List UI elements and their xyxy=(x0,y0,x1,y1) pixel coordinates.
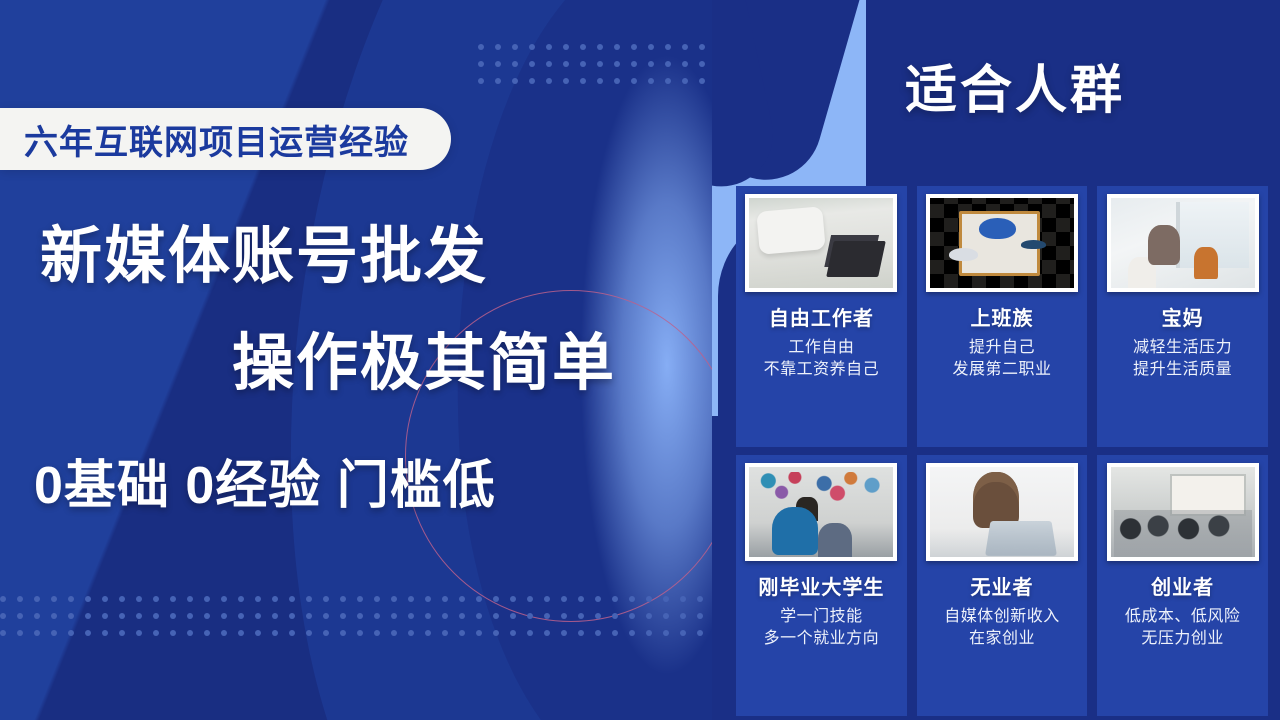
card-title: 自由工作者 xyxy=(769,302,874,331)
card-title: 创业者 xyxy=(1151,571,1214,600)
card-description: 低成本、低风险 无压力创业 xyxy=(1125,606,1241,650)
card-description-line: 低成本、低风险 xyxy=(1125,606,1241,628)
sparkle-icon xyxy=(1174,46,1236,146)
card-description-line: 自媒体创新收入 xyxy=(944,606,1060,628)
card-description-line: 学一门技能 xyxy=(764,606,880,628)
card-title: 无业者 xyxy=(970,571,1033,600)
card-description: 提升自己 发展第二职业 xyxy=(952,337,1051,381)
headline-tertiary: 0基础 0经验 门槛低 xyxy=(34,443,496,518)
card-description: 自媒体创新收入 在家创业 xyxy=(944,606,1060,650)
headline-primary: 新媒体账号批发 xyxy=(40,205,488,295)
photo-freelancer-laptop-on-bed xyxy=(749,198,893,288)
card-description-line: 多一个就业方向 xyxy=(764,628,880,650)
sparkle-icon xyxy=(38,642,158,720)
experience-badge: 六年互联网项目运营经验 xyxy=(0,108,451,170)
card-description-line: 不靠工资养自己 xyxy=(764,359,880,381)
card-description: 减轻生活压力 提升生活质量 xyxy=(1133,337,1232,381)
card-description-line: 无压力创业 xyxy=(1125,628,1241,650)
audience-card[interactable]: 宝妈 减轻生活压力 提升生活质量 xyxy=(1097,186,1268,447)
sparkle-icon xyxy=(0,646,24,720)
card-description-line: 工作自由 xyxy=(764,337,880,359)
card-photo-frame xyxy=(926,463,1078,561)
card-photo-frame xyxy=(1107,463,1259,561)
photo-student-at-desk-with-laptop xyxy=(749,467,893,557)
card-description-line: 提升生活质量 xyxy=(1133,359,1232,381)
photo-classroom-presentation xyxy=(1111,467,1255,557)
card-description-line: 减轻生活压力 xyxy=(1133,337,1232,359)
audience-card[interactable]: 创业者 低成本、低风险 无压力创业 xyxy=(1097,455,1268,716)
audience-card[interactable]: 上班族 提升自己 发展第二职业 xyxy=(917,186,1088,447)
card-title: 刚毕业大学生 xyxy=(758,571,884,600)
card-description-line: 提升自己 xyxy=(952,337,1051,359)
photo-stressed-woman-at-laptop xyxy=(930,467,1074,557)
card-photo-frame xyxy=(926,194,1078,292)
card-description-line: 发展第二职业 xyxy=(952,359,1051,381)
right-panel: 适合人群 自由工作者 工作自由 不靠工资养自己 上班族 提升自己 xyxy=(712,0,1280,720)
experience-badge-label: 六年互联网项目运营经验 xyxy=(24,115,409,164)
headline-secondary: 操作极其简单 xyxy=(232,312,616,402)
card-description: 工作自由 不靠工资养自己 xyxy=(764,337,880,381)
audience-card-grid: 自由工作者 工作自由 不靠工资养自己 上班族 提升自己 发展第二职业 xyxy=(736,186,1268,716)
left-panel: 六年互联网项目运营经验 新媒体账号批发 操作极其简单 0基础 0经验 门槛低 xyxy=(0,0,712,720)
section-title: 适合人群 xyxy=(905,48,1125,123)
card-photo-frame xyxy=(745,463,897,561)
card-title: 宝妈 xyxy=(1162,302,1204,331)
card-description-line: 在家创业 xyxy=(944,628,1060,650)
audience-card[interactable]: 自由工作者 工作自由 不靠工资养自己 xyxy=(736,186,907,447)
sparkle-icon xyxy=(1120,50,1182,148)
card-photo-frame xyxy=(1107,194,1259,292)
photo-office-team-meeting-top-view xyxy=(930,198,1074,288)
card-photo-frame xyxy=(745,194,897,292)
sparkle-icon xyxy=(844,44,900,132)
card-title: 上班族 xyxy=(970,302,1033,331)
promo-poster: 六年互联网项目运营经验 新媒体账号批发 操作极其简单 0基础 0经验 门槛低 适… xyxy=(0,0,1280,720)
card-description: 学一门技能 多一个就业方向 xyxy=(764,606,880,650)
audience-card[interactable]: 无业者 自媒体创新收入 在家创业 xyxy=(917,455,1088,716)
audience-card[interactable]: 刚毕业大学生 学一门技能 多一个就业方向 xyxy=(736,455,907,716)
photo-mother-with-child-on-bed xyxy=(1111,198,1255,288)
sparkle-icon xyxy=(1236,54,1280,148)
